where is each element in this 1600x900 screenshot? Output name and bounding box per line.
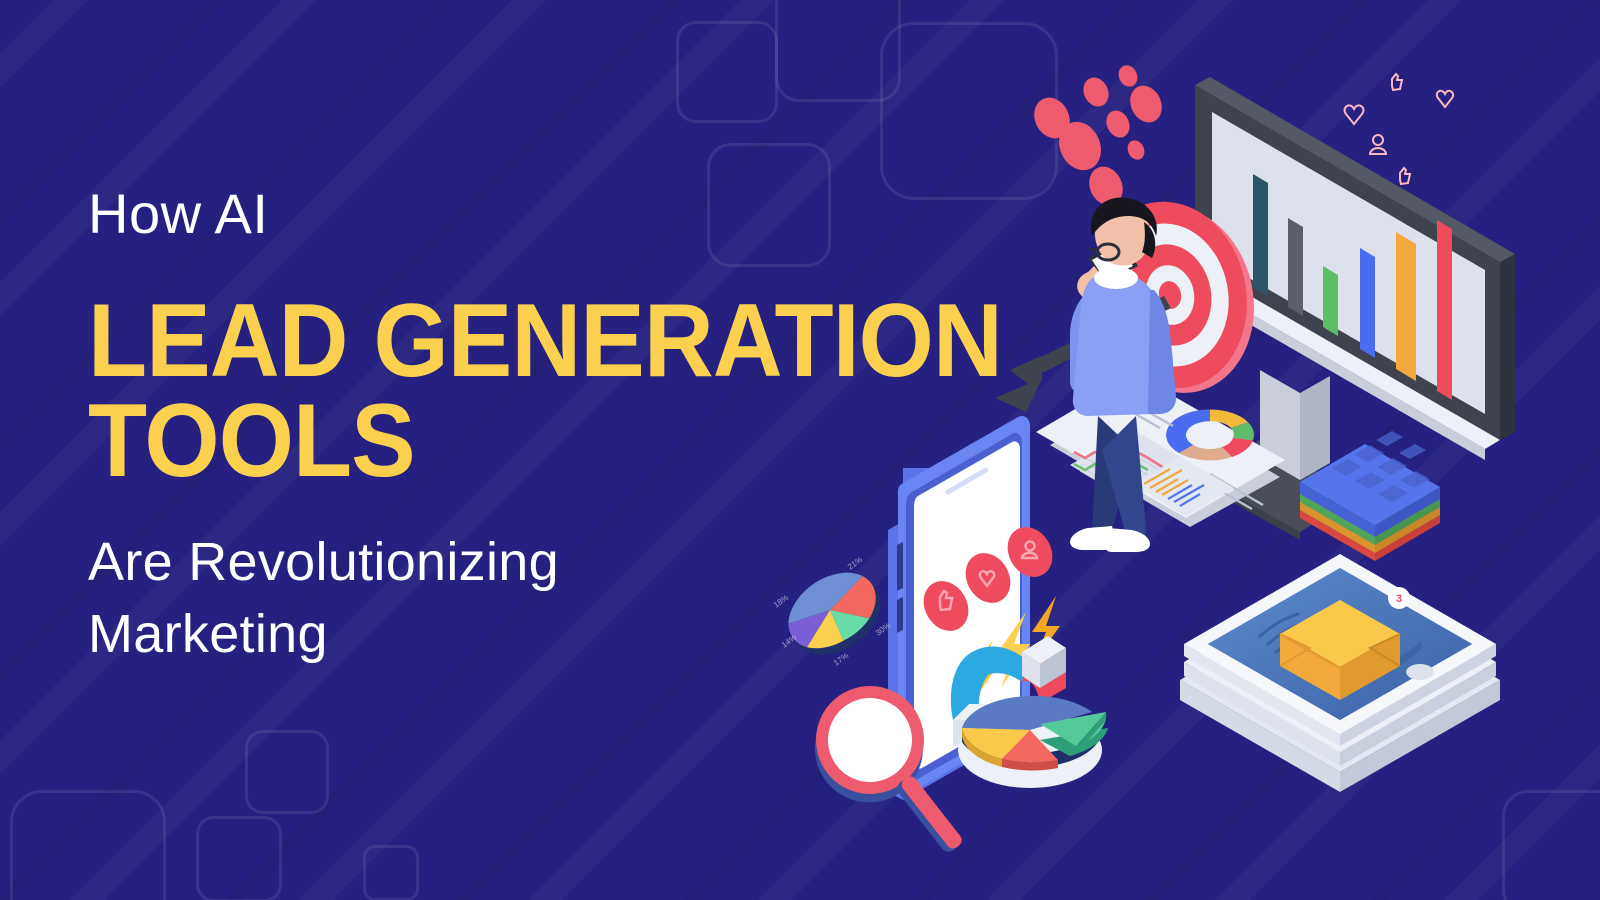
poster-canvas: How AI LEAD GENERATION TOOLS Are Revolut…: [0, 0, 1600, 900]
email-badge-count: 3: [1396, 593, 1402, 605]
thumbs-up-icon: [1400, 168, 1410, 184]
decor-rounded-square: [363, 845, 419, 900]
pie-label: 21%: [846, 555, 864, 572]
pie-label: 18%: [772, 593, 790, 610]
page-title: LEAD GENERATION TOOLS: [88, 292, 851, 492]
decor-rounded-square: [245, 730, 329, 814]
pie-label: 17%: [832, 651, 850, 668]
illustration-marketing-scene: 21% 18% 14% 17% 30%: [740, 40, 1560, 860]
headline-line-2: TOOLS: [88, 392, 851, 492]
thumbs-up-icon: [1392, 74, 1402, 90]
headline-line-1: LEAD GENERATION: [88, 292, 851, 392]
pie-chart-small: 21% 18% 14% 17% 30%: [772, 555, 895, 671]
heart-icon: [1437, 91, 1453, 107]
heart-icon: [1345, 105, 1364, 124]
pie-chart-3d: [958, 696, 1108, 788]
decor-rounded-square: [10, 790, 166, 900]
decor-rounded-square: [196, 816, 282, 900]
person-icon: [1373, 135, 1383, 145]
email-tablet: 3: [1180, 554, 1500, 792]
